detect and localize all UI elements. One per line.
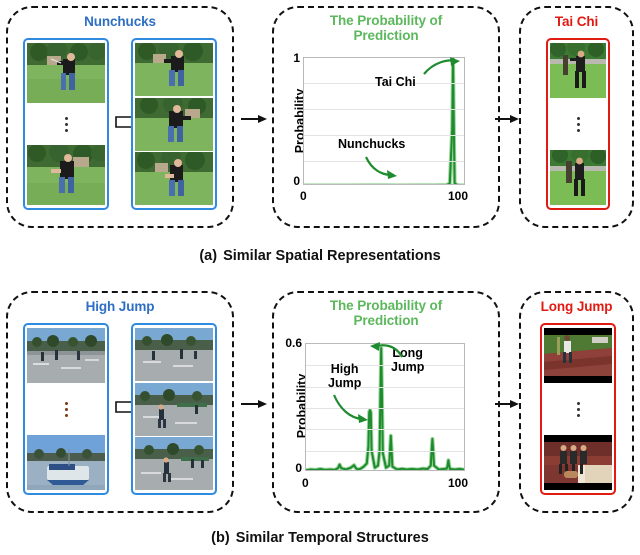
video-frame: [135, 98, 213, 151]
chart-b-anno-highjump-line2: Jump: [328, 377, 361, 391]
chart-a-annotation-nunchucks: Nunchucks: [338, 138, 405, 152]
chart-a-anno-taichi-arrow: [422, 56, 462, 78]
frame-stack-a-input-right: [131, 38, 217, 210]
frame-stack-b-input-right: [131, 323, 217, 495]
video-frame: [135, 437, 213, 490]
video-frame: [135, 383, 213, 436]
flow-arrow-a-1: [240, 111, 268, 127]
video-frame: [544, 435, 612, 490]
chart-a-xtick-right: 100: [448, 189, 468, 203]
caption-a-label: (a): [199, 248, 217, 264]
chart-a-ytick-top: 1: [278, 51, 300, 65]
chart-a-ytick-bottom: 0: [278, 174, 300, 188]
panel-b-chart-title: The Probability of Prediction: [272, 298, 500, 328]
chart-b: Probability 0.6 0 0 100 High Jump Long J: [272, 331, 500, 506]
video-frame: [544, 328, 612, 383]
figure-root: Nunchucks: [0, 0, 640, 555]
video-frame: [27, 435, 105, 490]
chart-b-anno-highjump-line1: High: [328, 363, 361, 377]
chart-b-ytick-top: 0.6: [272, 336, 302, 350]
panel-a-output-title: Tai Chi: [519, 14, 634, 29]
chart-a-anno-nunchucks-arrow: [364, 154, 404, 180]
chart-a-xtick-left: 0: [300, 189, 307, 203]
chart-b-xtick-left: 0: [302, 476, 309, 490]
caption-b: (b)Similar Temporal Structures: [0, 530, 640, 546]
caption-b-text: Similar Temporal Structures: [236, 530, 429, 546]
chart-a-title-line2: Prediction: [272, 28, 500, 43]
chart-a-anno-nunchucks-text: Nunchucks: [338, 137, 405, 151]
frame-stack-a-output: [546, 38, 610, 210]
ellipsis-icon: [577, 98, 580, 150]
chart-a-annotation-taichi: Tai Chi: [375, 76, 416, 90]
chart-a-anno-taichi-text: Tai Chi: [375, 75, 416, 89]
ellipsis-icon: [65, 103, 68, 145]
chart-a: Probability 1 0 0 100 Tai Chi Nunchucks: [272, 46, 500, 221]
frame-stack-b-input-left: [23, 323, 109, 495]
video-frame: [550, 150, 606, 205]
video-frame: [135, 43, 213, 96]
ellipsis-icon: [577, 383, 580, 435]
frame-stack-a-input-left: [23, 38, 109, 210]
chart-b-anno-longjump-arrow: [368, 341, 404, 363]
caption-b-label: (b): [211, 530, 230, 546]
video-frame: [27, 328, 105, 383]
video-frame: [27, 43, 105, 103]
flow-arrow-b-1: [240, 396, 268, 412]
panel-a-input-title: Nunchucks: [6, 14, 234, 29]
video-frame: [27, 145, 105, 205]
caption-a: (a)Similar Spatial Representations: [0, 248, 640, 264]
chart-b-anno-highjump-arrow: [332, 393, 378, 425]
panel-a-chart-title: The Probability of Prediction: [272, 13, 500, 43]
flow-arrow-b-2: [494, 396, 520, 412]
caption-a-text: Similar Spatial Representations: [223, 248, 441, 264]
ellipsis-icon: [65, 383, 68, 435]
panel-b-output-title: Long Jump: [519, 299, 634, 314]
frame-stack-b-output: [540, 323, 616, 495]
chart-a-title-line1: The Probability of: [272, 13, 500, 28]
video-frame: [135, 328, 213, 381]
panel-b-input-title: High Jump: [6, 299, 234, 314]
flow-arrow-a-2: [494, 111, 520, 127]
chart-b-xtick-right: 100: [448, 476, 468, 490]
video-frame: [135, 152, 213, 205]
chart-b-ytick-bottom: 0: [272, 461, 302, 475]
chart-b-annotation-highjump: High Jump: [328, 363, 361, 390]
video-frame: [550, 43, 606, 98]
chart-b-title-line1: The Probability of: [272, 298, 500, 313]
chart-b-title-line2: Prediction: [272, 313, 500, 328]
